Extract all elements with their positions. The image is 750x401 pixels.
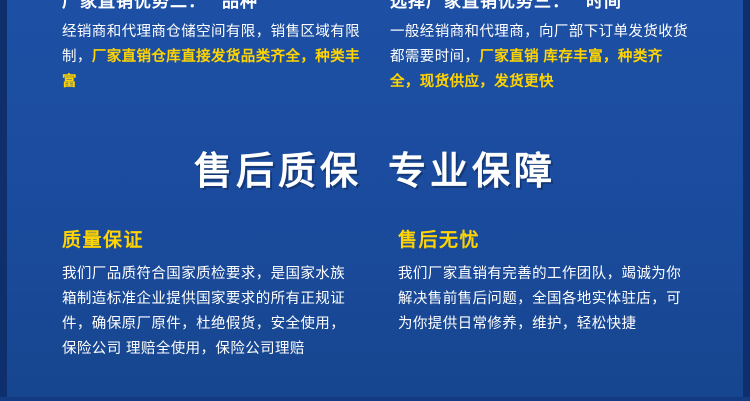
after-sales-body: 我们厂家直销有完善的工作团队，竭诚为你解决售前售后问题，全国各地实体驻店，可为你… bbox=[398, 262, 694, 337]
advantage-3-title: 选择厂家直销优势三：时间 bbox=[390, 0, 710, 14]
section-headline: 售后质保专业保障 bbox=[0, 140, 750, 195]
advantage-2-title: 厂家直销优势二：品种 bbox=[62, 0, 382, 14]
advantage-block-2: 厂家直销优势二：品种 经销商和代理商仓储空间有限，销售区域有限制，厂家直销仓库直… bbox=[62, 0, 382, 95]
after-sales-title: 售后无忧 bbox=[398, 228, 698, 254]
advantages-row: 厂家直销优势二：品种 经销商和代理商仓储空间有限，销售区域有限制，厂家直销仓库直… bbox=[0, 0, 750, 125]
advantage-2-title-word: 品种 bbox=[222, 0, 258, 11]
advantage-3-body: 一般经销商和代理商，向厂部下订单发货收货都需要时间，厂家直销 库存丰富，种类齐全… bbox=[390, 20, 690, 95]
headline-left: 售后质保 bbox=[194, 151, 362, 193]
quality-guarantee-title: 质量保证 bbox=[62, 228, 362, 254]
advantage-2-body-highlight: 厂家直销仓库直接发货品类齐全，种类丰富 bbox=[62, 49, 360, 90]
headline-right: 专业保障 bbox=[388, 151, 556, 193]
bottom-bar bbox=[0, 397, 750, 401]
after-sales-block: 售后无忧 我们厂家直销有完善的工作团队，竭诚为你解决售前售后问题，全国各地实体驻… bbox=[398, 228, 698, 337]
quality-guarantee-body: 我们厂品质符合国家质检要求，是国家水族箱制造标准企业提供国家要求的所有正规证件，… bbox=[62, 262, 358, 362]
advantage-2-title-label: 厂家直销优势二： bbox=[62, 0, 206, 11]
advantage-3-title-word: 时间 bbox=[586, 0, 622, 11]
advantage-block-3: 选择厂家直销优势三：时间 一般经销商和代理商，向厂部下订单发货收货都需要时间，厂… bbox=[390, 0, 710, 95]
advantage-3-title-label: 选择厂家直销优势三： bbox=[390, 0, 570, 11]
promo-page: 厂家直销优势二：品种 经销商和代理商仓储空间有限，销售区域有限制，厂家直销仓库直… bbox=[0, 0, 750, 401]
advantage-2-body: 经销商和代理商仓储空间有限，销售区域有限制，厂家直销仓库直接发货品类齐全，种类丰… bbox=[62, 20, 362, 95]
quality-guarantee-block: 质量保证 我们厂品质符合国家质检要求，是国家水族箱制造标准企业提供国家要求的所有… bbox=[62, 228, 362, 362]
